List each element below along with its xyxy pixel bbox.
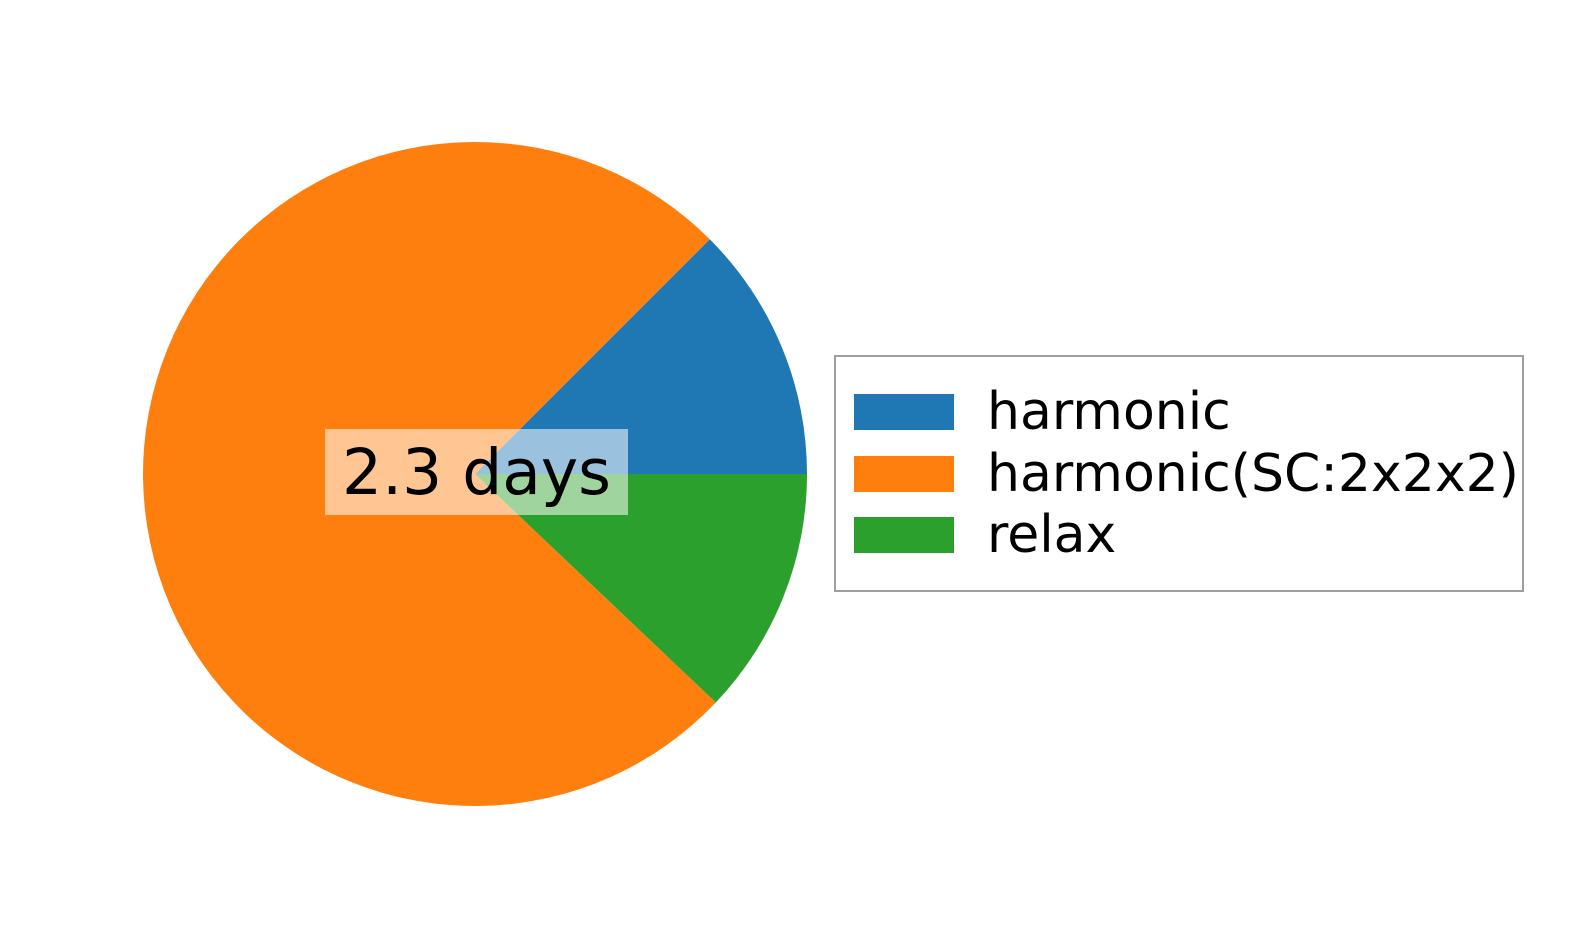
legend-label-harmonic-sc-2x2x2: harmonic(SC:2x2x2) [987,448,1519,500]
chart-legend: harmonic harmonic(SC:2x2x2) relax [834,355,1524,592]
pie-chart-figure: 2.3 days harmonic harmonic(SC:2x2x2) rel… [0,0,1584,951]
legend-item-harmonic[interactable]: harmonic [854,381,1504,443]
legend-swatch-relax [854,517,954,553]
legend-swatch-harmonic-sc-2x2x2 [854,456,954,492]
legend-item-harmonic-sc-2x2x2[interactable]: harmonic(SC:2x2x2) [854,443,1504,505]
legend-swatch-harmonic [854,394,954,430]
legend-item-relax[interactable]: relax [854,504,1504,566]
legend-label-harmonic: harmonic [987,386,1231,438]
legend-label-relax: relax [987,509,1116,561]
pie-center-total-label: 2.3 days [325,429,628,515]
